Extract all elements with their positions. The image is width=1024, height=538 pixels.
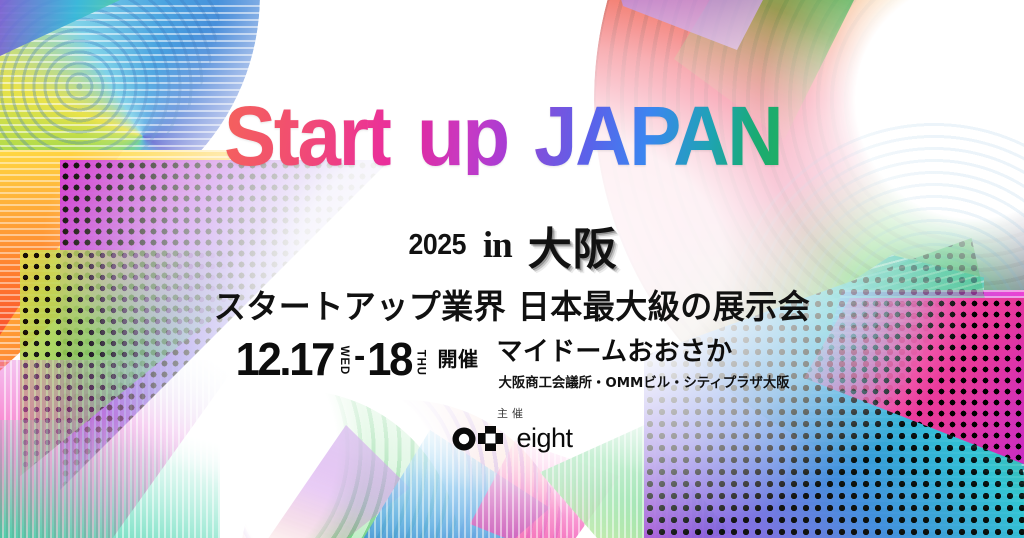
event-logotype: Start up JAPAN	[0, 98, 1024, 175]
date-start-day: 12.17	[236, 338, 333, 381]
event-date-block: 12.17 WED - 18 THU 開催	[233, 336, 478, 381]
date-separator: -	[354, 339, 365, 373]
event-tagline: スタートアップ業界 日本最大級の展示会	[15, 280, 1008, 328]
venue-name: マイドームおおさか	[497, 338, 791, 367]
edition-city: 大阪	[528, 213, 618, 277]
edition-subtitle: 2025 in 大阪	[0, 213, 1024, 277]
event-key-visual-banner: Start up JAPAN 2025 in 大阪 スタートアップ業界 日本最大…	[0, 0, 1024, 538]
date-end-dow: THU	[416, 349, 428, 375]
venue-sub-note: 大阪商工会議所・OMMビル・シティプラザ大阪	[498, 371, 789, 391]
edition-year: 2025	[409, 229, 467, 262]
organizer-brand-name: eight	[516, 425, 572, 452]
eight-logo-mark	[451, 426, 507, 452]
date-end-day: 18	[368, 338, 412, 381]
organizer-label: 主催	[0, 405, 1024, 421]
event-venue-block: マイドームおおさか 大阪商工会議所・OMMビル・シティプラザ大阪	[497, 336, 791, 391]
event-details-row: 12.17 WED - 18 THU 開催 マイドームおおさか 大阪商工会議所・…	[0, 336, 1024, 391]
banner-content: Start up JAPAN 2025 in 大阪 スタートアップ業界 日本最大…	[0, 0, 1024, 538]
logotype-word-start: Start	[224, 98, 390, 175]
organizer-logo: eight	[0, 425, 1024, 452]
edition-preposition: in	[483, 224, 512, 267]
logotype-word-japan: JAPAN	[534, 98, 781, 175]
date-start-dow: WED	[339, 346, 351, 375]
logotype-word-up: up	[417, 98, 508, 175]
date-held-label: 開催	[438, 343, 479, 372]
